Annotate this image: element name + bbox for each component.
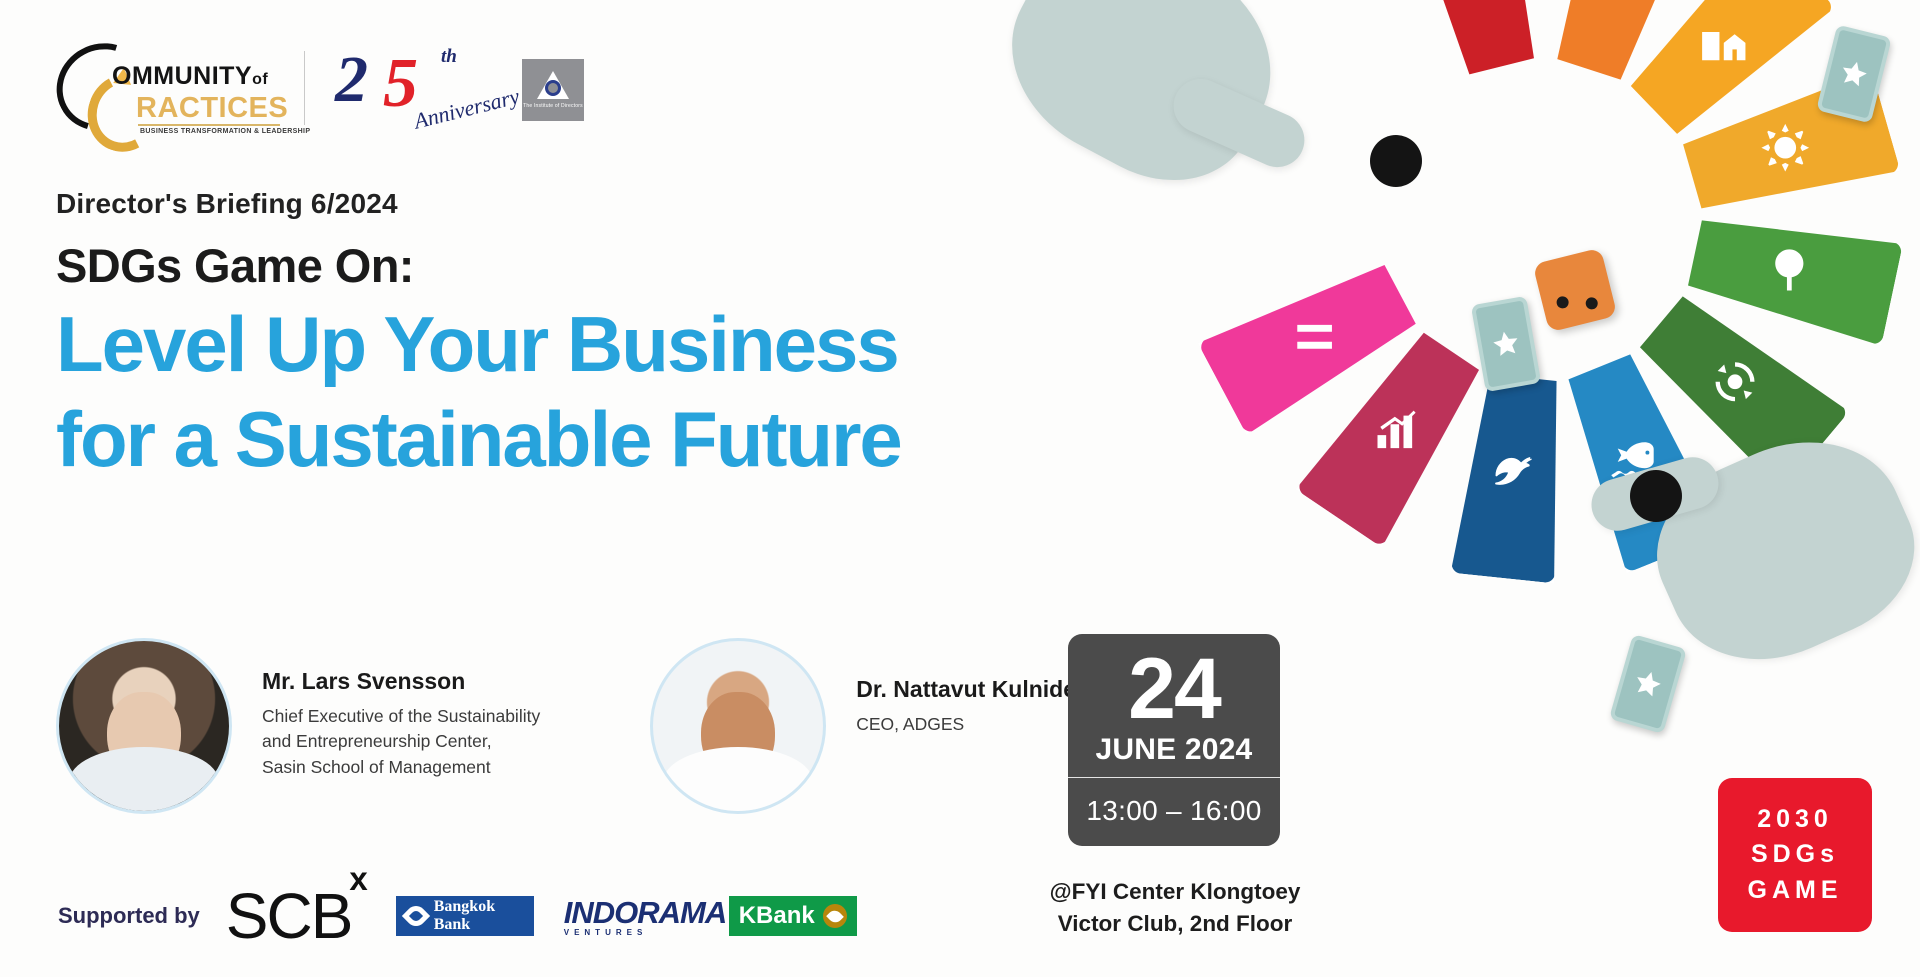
speaker-card: Mr. Lars Svensson Chief Executive of the… (56, 638, 540, 814)
speaker-role: CEO, ADGES (856, 712, 1089, 737)
bar-chart-icon (1371, 403, 1423, 460)
speakers-row: Mr. Lars Svensson Chief Executive of the… (56, 638, 1089, 814)
cop-line-one: OMMUNITYof (112, 62, 268, 91)
pawn-top (1370, 135, 1422, 187)
bangkok-bank-text: Bangkok Bank (434, 898, 524, 934)
logo-divider (304, 51, 305, 125)
globe-arrows-icon (1709, 355, 1761, 412)
graduation-cap-icon (1452, 0, 1504, 1)
event-venue: @FYI Center Klongtoey Victor Club, 2nd F… (1030, 876, 1320, 940)
kbank-seed-icon (823, 904, 847, 928)
kbank-logo: KBank (729, 896, 857, 936)
speaker-name: Dr. Nattavut Kulnides (856, 676, 1089, 703)
anniversary-ordinal: th (441, 46, 457, 68)
scbx-logo: SCBx (226, 884, 368, 948)
iod-logo: The Institute of Directors (522, 59, 584, 121)
game-logo-line-1: 2030 (1757, 802, 1833, 838)
cop-word-community: OMMUNITY (112, 62, 252, 90)
title-line-1: Level Up Your Business (56, 301, 901, 388)
tree-icon (1763, 245, 1815, 302)
bangkok-bank-diamond-icon (402, 902, 430, 930)
header-logos: OMMUNITYof RACTICES BUSINESS TRANSFORMAT… (52, 38, 584, 138)
title-line-2: for a Sustainable Future (56, 396, 901, 483)
city-buildings-icon (1697, 14, 1749, 71)
kbank-text: KBank (739, 902, 815, 930)
badge-divider (1068, 777, 1280, 778)
wheel-segment-slice (1451, 364, 1576, 584)
cop-tagline: BUSINESS TRANSFORMATION & LEADERSHIP (140, 128, 310, 135)
anniversary-digit-2: 2 (335, 42, 364, 118)
game-logo-line-2: SDGs (1751, 837, 1839, 873)
headline-block: Director's Briefing 6/2024 SDGs Game On:… (56, 188, 901, 484)
event-banner: OMMUNITYof RACTICES BUSINESS TRANSFORMAT… (0, 0, 1920, 977)
anniversary-word: Anniversary (411, 83, 522, 134)
briefing-kicker: Director's Briefing 6/2024 (56, 188, 901, 220)
supported-by-label: Supported by (58, 903, 200, 929)
speaker-card: Dr. Nattavut Kulnides CEO, ADGES (650, 638, 1089, 814)
anniversary-logo: 2 5 th Anniversary (335, 38, 510, 138)
iod-caption: The Institute of Directors (523, 103, 583, 109)
avatar (56, 638, 232, 814)
community-of-practices-logo: OMMUNITYof RACTICES BUSINESS TRANSFORMAT… (52, 38, 282, 138)
anniversary-digit-5: 5 (383, 44, 415, 124)
event-time: 13:00 – 16:00 (1086, 795, 1261, 827)
subtitle: SDGs Game On: (56, 238, 901, 293)
iod-mark-icon (536, 71, 570, 101)
wheel-segment-slice (1402, 0, 1554, 87)
avatar (650, 638, 826, 814)
scbx-text: SCB (226, 880, 352, 952)
equality-icon (1289, 311, 1341, 368)
scbx-superscript: x (349, 860, 365, 897)
game-logo-line-3: GAME (1748, 873, 1843, 909)
cop-word-practices: RACTICES (136, 92, 288, 125)
bangkok-bank-logo: Bangkok Bank (396, 896, 534, 936)
sun-icon (1759, 121, 1811, 178)
sponsors-row: Supported by SCBx Bangkok Bank INDORAMA … (58, 884, 877, 948)
cop-word-of: of (252, 71, 268, 88)
speaker-name: Mr. Lars Svensson (262, 668, 540, 695)
event-month-year: JUNE 2024 (1096, 733, 1253, 767)
indorama-logo: INDORAMA VENTURES (554, 896, 709, 936)
indorama-text: INDORAMA (564, 895, 727, 931)
indorama-subtext: VENTURES (564, 928, 648, 937)
speaker-role: Chief Executive of the Sustainability an… (262, 704, 540, 780)
cop-rule (138, 124, 280, 126)
sdgs-game-logo: 2030 SDGs GAME (1718, 778, 1872, 932)
blocks-icon (1593, 0, 1645, 6)
dove-peace-icon (1487, 445, 1539, 502)
pawn-right (1630, 470, 1682, 522)
